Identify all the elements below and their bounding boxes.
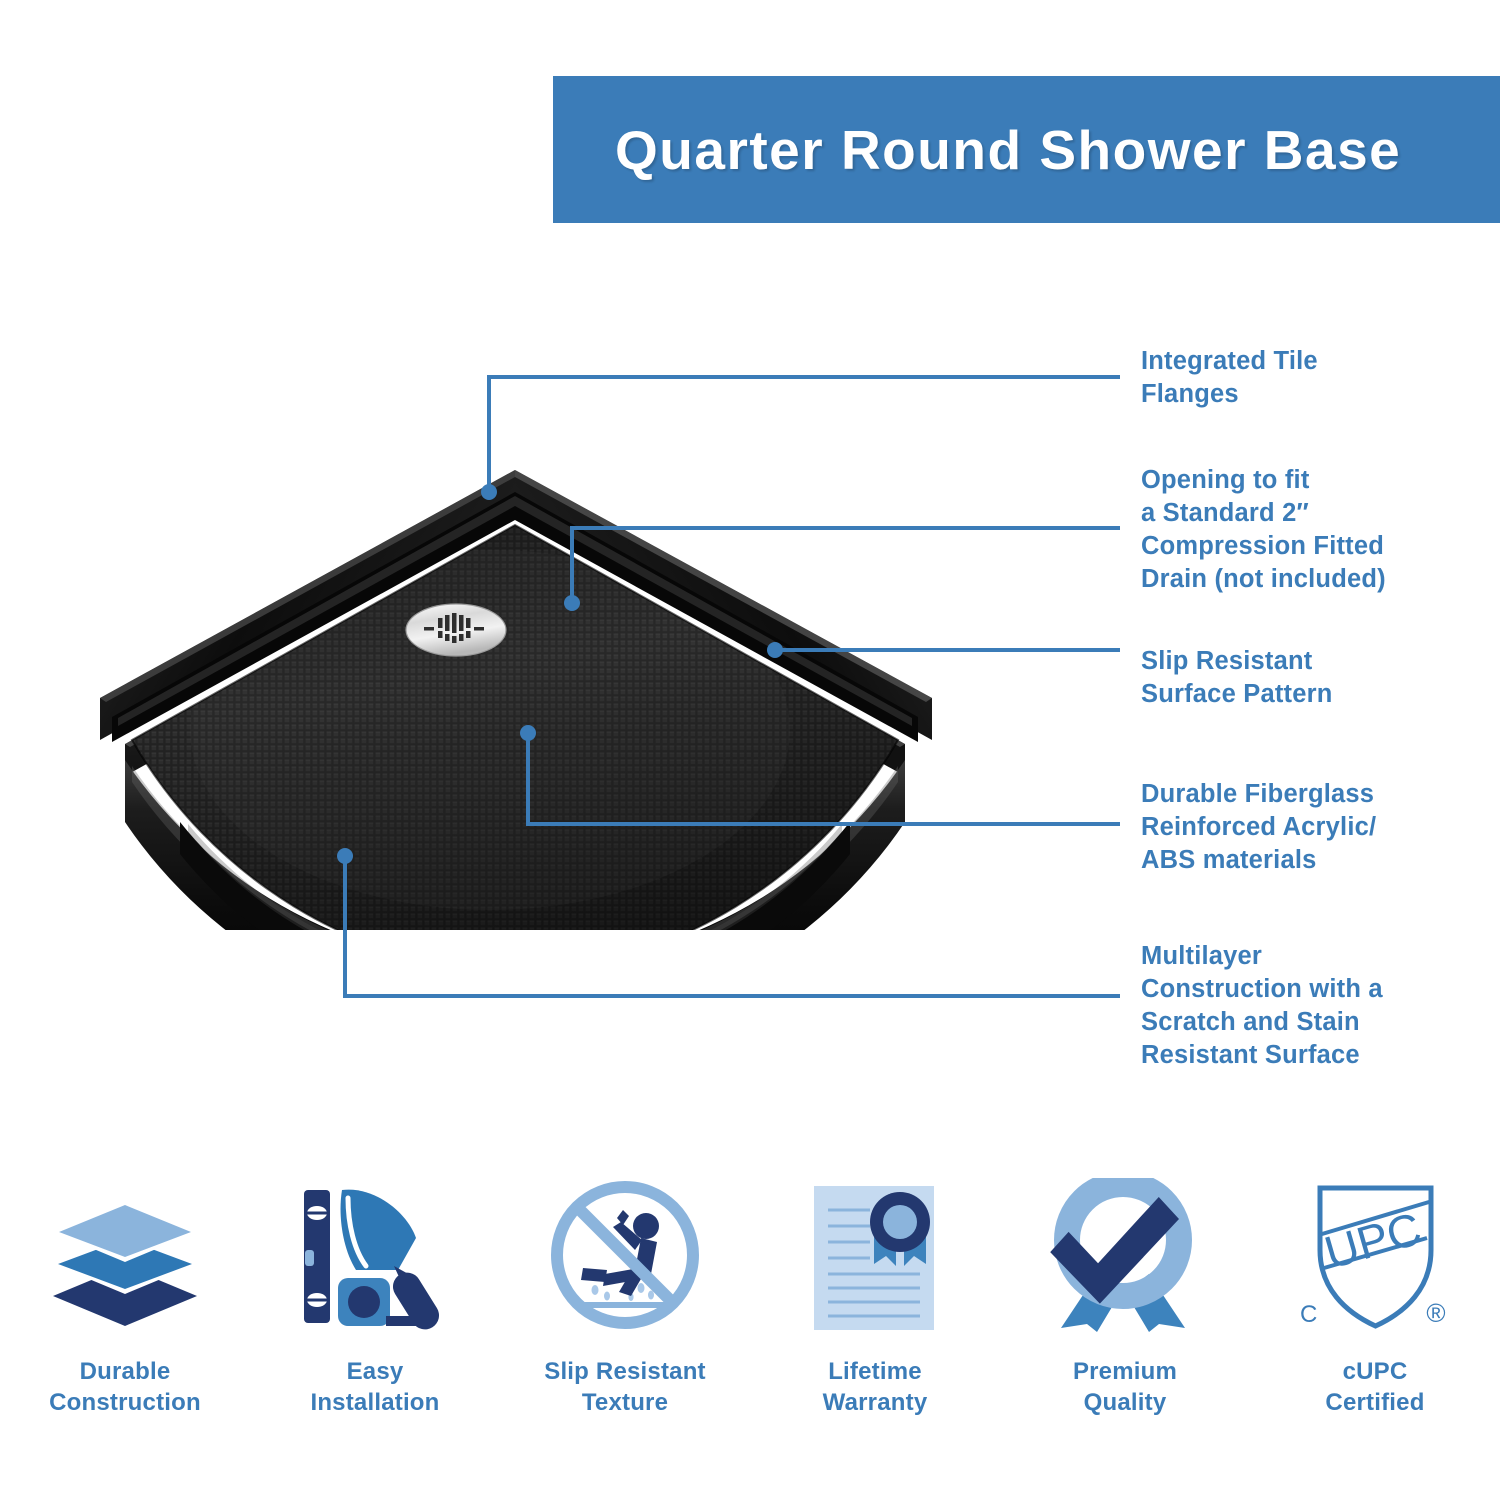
callout-line: Surface Pattern — [1141, 678, 1471, 711]
level-trowel-tools-icon — [290, 1175, 460, 1335]
page-title: Quarter Round Shower Base — [615, 118, 1401, 182]
callout-line: Slip Resistant — [1141, 645, 1471, 678]
registered-mark-icon: ® — [1426, 1298, 1445, 1328]
feature-label: Lifetime Warranty — [823, 1357, 928, 1418]
drain-cover — [406, 604, 506, 656]
feature-easy-installation: Easy Installation — [250, 1175, 500, 1455]
feature-label-line: cUPC — [1325, 1357, 1424, 1388]
stacked-layers-icon — [40, 1175, 210, 1335]
callout-multilayer-construction: Multilayer Construction with a Scratch a… — [1141, 940, 1471, 1073]
feature-durable-construction: Durable Construction — [0, 1175, 250, 1455]
callout-line: Durable Fiberglass — [1141, 778, 1471, 811]
callout-line: Integrated Tile — [1141, 345, 1471, 378]
feature-badges-row: Durable Construction — [0, 1175, 1500, 1455]
upc-shield-text: UPC — [1318, 1202, 1426, 1279]
feature-slip-resistant-texture: Slip Resistant Texture — [500, 1175, 750, 1455]
callout-line: Construction with a — [1141, 973, 1471, 1006]
feature-label-line: Easy — [310, 1357, 439, 1388]
infographic-page: Quarter Round Shower Base — [0, 0, 1500, 1500]
feature-lifetime-warranty: Lifetime Warranty — [750, 1175, 1000, 1455]
feature-label: Premium Quality — [1073, 1357, 1177, 1418]
feature-cupc-certified: UPC C ® cUPC Certified — [1250, 1175, 1500, 1455]
certificate-award-icon — [800, 1175, 950, 1335]
callout-integrated-tile-flanges: Integrated Tile Flanges — [1141, 345, 1471, 411]
callout-line: Resistant Surface — [1141, 1039, 1471, 1072]
feature-label-line: Premium — [1073, 1357, 1177, 1388]
callout-line: a Standard 2″ — [1141, 497, 1471, 530]
feature-label-line: Texture — [544, 1388, 706, 1419]
upc-shield-icon: UPC C ® — [1288, 1175, 1463, 1335]
callout-line: Flanges — [1141, 378, 1471, 411]
no-slip-icon — [545, 1175, 705, 1335]
feature-label-line: Installation — [310, 1388, 439, 1419]
callout-line: Multilayer — [1141, 940, 1471, 973]
feature-label: Slip Resistant Texture — [544, 1357, 706, 1418]
callout-line: Reinforced Acrylic/ — [1141, 811, 1471, 844]
callout-line: Compression Fitted — [1141, 530, 1471, 563]
checkmark-ribbon-icon — [1045, 1175, 1205, 1335]
feature-label: Durable Construction — [49, 1357, 201, 1418]
feature-premium-quality: Premium Quality — [1000, 1175, 1250, 1455]
title-banner: Quarter Round Shower Base — [553, 76, 1500, 223]
callout-slip-resistant-surface: Slip Resistant Surface Pattern — [1141, 645, 1471, 711]
feature-label-line: Durable — [49, 1357, 201, 1388]
feature-label: cUPC Certified — [1325, 1357, 1424, 1418]
feature-label-line: Lifetime — [823, 1357, 928, 1388]
callout-line: Drain (not included) — [1141, 563, 1471, 596]
feature-label-line: Slip Resistant — [544, 1357, 706, 1388]
callout-drain-opening: Opening to fit a Standard 2″ Compression… — [1141, 464, 1471, 597]
product-image — [60, 430, 1070, 930]
feature-label-line: Quality — [1073, 1388, 1177, 1419]
upc-shield-prefix: C — [1300, 1301, 1317, 1328]
callout-line: Scratch and Stain — [1141, 1006, 1471, 1039]
feature-label-line: Construction — [49, 1388, 201, 1419]
feature-label-line: Warranty — [823, 1388, 928, 1419]
callout-line: Opening to fit — [1141, 464, 1471, 497]
callout-durable-materials: Durable Fiberglass Reinforced Acrylic/ A… — [1141, 778, 1471, 877]
feature-label: Easy Installation — [310, 1357, 439, 1418]
callout-line: ABS materials — [1141, 844, 1471, 877]
feature-label-line: Certified — [1325, 1388, 1424, 1419]
